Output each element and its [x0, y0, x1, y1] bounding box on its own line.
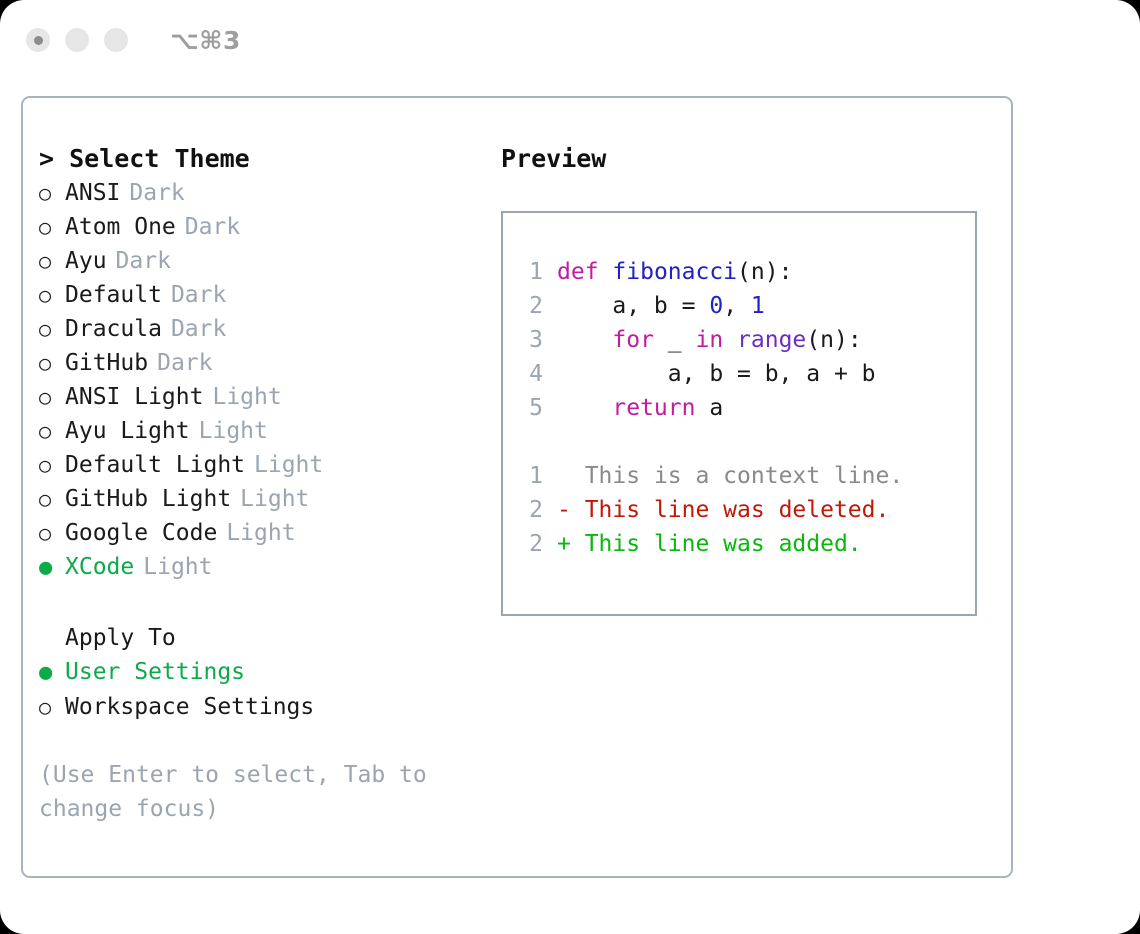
radio-selected-icon: ●	[39, 656, 65, 690]
theme-picker-window: ⌥⌘3 > Select Theme ○ANSIDark○Atom OneDar…	[0, 0, 1140, 934]
theme-variant-label: Light	[254, 448, 323, 482]
theme-list-item[interactable]: ○ANSIDark	[39, 176, 469, 210]
apply-to-option[interactable]: ●User Settings	[39, 655, 469, 690]
code-line-content: a, b = b, a + b	[557, 357, 876, 391]
radio-selected-icon: ●	[39, 551, 65, 585]
radio-unselected-icon: ○	[39, 210, 65, 244]
diff-text: This line was added.	[571, 527, 862, 561]
main-panel: > Select Theme ○ANSIDark○Atom OneDark○Ay…	[21, 96, 1013, 878]
theme-name: GitHub	[65, 346, 148, 380]
theme-list-item[interactable]: ●XCodeLight	[39, 550, 469, 585]
theme-name: Default	[65, 278, 162, 312]
diff-line: 2- This line was deleted.	[521, 493, 903, 527]
theme-name: XCode	[65, 550, 134, 584]
theme-name: Atom One	[65, 210, 176, 244]
code-line: 1def fibonacci(n):	[521, 255, 903, 289]
code-token: range	[737, 327, 806, 353]
preview-title: Preview	[501, 142, 991, 176]
radio-unselected-icon: ○	[39, 244, 65, 278]
dot-2-icon[interactable]	[65, 28, 89, 52]
code-line: 3 for _ in range(n):	[521, 323, 903, 357]
code-token: (n):	[737, 259, 792, 285]
theme-name: GitHub Light	[65, 482, 231, 516]
line-number: 1	[521, 459, 543, 493]
keyboard-shortcut-label: ⌥⌘3	[170, 26, 241, 55]
line-number: 2	[521, 289, 543, 323]
theme-variant-label: Light	[199, 414, 268, 448]
code-token: ,	[723, 293, 751, 319]
theme-variant-label: Light	[212, 380, 281, 414]
theme-name: ANSI	[65, 176, 120, 210]
theme-variant-label: Dark	[185, 210, 240, 244]
theme-list-item[interactable]: ○Atom OneDark	[39, 210, 469, 244]
line-number: 2	[521, 493, 543, 527]
line-number: 5	[521, 391, 543, 425]
keyboard-hint-text: (Use Enter to select, Tab to change focu…	[39, 758, 439, 826]
theme-list-item[interactable]: ○DefaultDark	[39, 278, 469, 312]
diff-text: This line was deleted.	[571, 493, 890, 527]
code-token: a, b = b, a + b	[557, 361, 876, 387]
diff-sign: -	[557, 493, 571, 527]
dot-3-icon[interactable]	[104, 28, 128, 52]
code-token	[557, 327, 612, 353]
code-token: return	[612, 395, 695, 421]
radio-unselected-icon: ○	[39, 176, 65, 210]
code-line: 4 a, b = b, a + b	[521, 357, 903, 391]
radio-unselected-icon: ○	[39, 448, 65, 482]
theme-variant-label: Dark	[157, 346, 212, 380]
code-line-content: def fibonacci(n):	[557, 255, 792, 289]
diff-line: 1 This is a context line.	[521, 459, 903, 493]
theme-list-item[interactable]: ○Google CodeLight	[39, 516, 469, 550]
radio-unselected-icon: ○	[39, 414, 65, 448]
theme-list-item[interactable]: ○GitHub LightLight	[39, 482, 469, 516]
theme-name: Default Light	[65, 448, 245, 482]
preview-separator	[521, 425, 903, 459]
active-dot-icon[interactable]	[26, 28, 50, 52]
code-line: 5 return a	[521, 391, 903, 425]
theme-list-item[interactable]: ○AyuDark	[39, 244, 469, 278]
theme-list[interactable]: ○ANSIDark○Atom OneDark○AyuDark○DefaultDa…	[39, 176, 469, 585]
code-preview: 1def fibonacci(n):2 a, b = 0, 13 for _ i…	[521, 255, 903, 561]
theme-variant-label: Light	[226, 516, 295, 550]
theme-list-item[interactable]: ○ANSI LightLight	[39, 380, 469, 414]
preview-box: 1def fibonacci(n):2 a, b = 0, 13 for _ i…	[501, 211, 977, 616]
code-token: 0	[709, 293, 723, 319]
code-token: fibonacci	[612, 259, 737, 285]
code-line-content: for _ in range(n):	[557, 323, 862, 357]
theme-name: Ayu	[65, 244, 107, 278]
code-line-content: return a	[557, 391, 723, 425]
radio-unselected-icon: ○	[39, 690, 65, 724]
code-token: 1	[751, 293, 765, 319]
theme-list-item[interactable]: ○Ayu LightLight	[39, 414, 469, 448]
line-number: 3	[521, 323, 543, 357]
apply-to-label: Workspace Settings	[65, 690, 314, 724]
theme-list-item[interactable]: ○DraculaDark	[39, 312, 469, 346]
theme-name: Ayu Light	[65, 414, 190, 448]
theme-name: Google Code	[65, 516, 217, 550]
radio-unselected-icon: ○	[39, 516, 65, 550]
theme-variant-label: Dark	[171, 278, 226, 312]
code-token	[723, 327, 737, 353]
window-titlebar: ⌥⌘3	[0, 0, 1140, 80]
active-dot-inner	[34, 36, 43, 45]
theme-variant-label: Dark	[129, 176, 184, 210]
theme-list-item[interactable]: ○GitHubDark	[39, 346, 469, 380]
theme-name: ANSI Light	[65, 380, 203, 414]
traffic-light-group	[26, 28, 128, 52]
radio-unselected-icon: ○	[39, 312, 65, 346]
radio-unselected-icon: ○	[39, 278, 65, 312]
theme-variant-label: Light	[143, 550, 212, 584]
apply-to-list[interactable]: ●User Settings○Workspace Settings	[39, 655, 469, 724]
select-theme-header: > Select Theme	[39, 142, 469, 176]
apply-to-header: Apply To	[39, 621, 469, 655]
diff-sign: +	[557, 527, 571, 561]
line-number: 1	[521, 255, 543, 289]
code-token: def	[557, 259, 599, 285]
code-token: a	[695, 395, 723, 421]
radio-unselected-icon: ○	[39, 380, 65, 414]
line-number: 2	[521, 527, 543, 561]
theme-selection-column: > Select Theme ○ANSIDark○Atom OneDark○Ay…	[39, 142, 469, 826]
code-token: (n):	[806, 327, 861, 353]
diff-sign	[557, 459, 571, 493]
code-token	[599, 259, 613, 285]
code-line-content: a, b = 0, 1	[557, 289, 765, 323]
radio-unselected-icon: ○	[39, 482, 65, 516]
diff-text: This is a context line.	[571, 459, 903, 493]
apply-to-option[interactable]: ○Workspace Settings	[39, 690, 469, 724]
theme-variant-label: Dark	[171, 312, 226, 346]
code-token	[557, 395, 612, 421]
theme-list-item[interactable]: ○Default LightLight	[39, 448, 469, 482]
code-token: a, b =	[557, 293, 709, 319]
apply-to-label: User Settings	[65, 655, 245, 689]
theme-variant-label: Light	[240, 482, 309, 516]
code-line: 2 a, b = 0, 1	[521, 289, 903, 323]
line-number: 4	[521, 357, 543, 391]
diff-line: 2+ This line was added.	[521, 527, 903, 561]
preview-column: Preview 1def fibonacci(n):2 a, b = 0, 13…	[501, 142, 991, 616]
code-token: for	[612, 327, 654, 353]
theme-variant-label: Dark	[116, 244, 171, 278]
theme-name: Dracula	[65, 312, 162, 346]
code-token: in	[695, 327, 723, 353]
code-token: _	[654, 327, 696, 353]
radio-unselected-icon: ○	[39, 346, 65, 380]
